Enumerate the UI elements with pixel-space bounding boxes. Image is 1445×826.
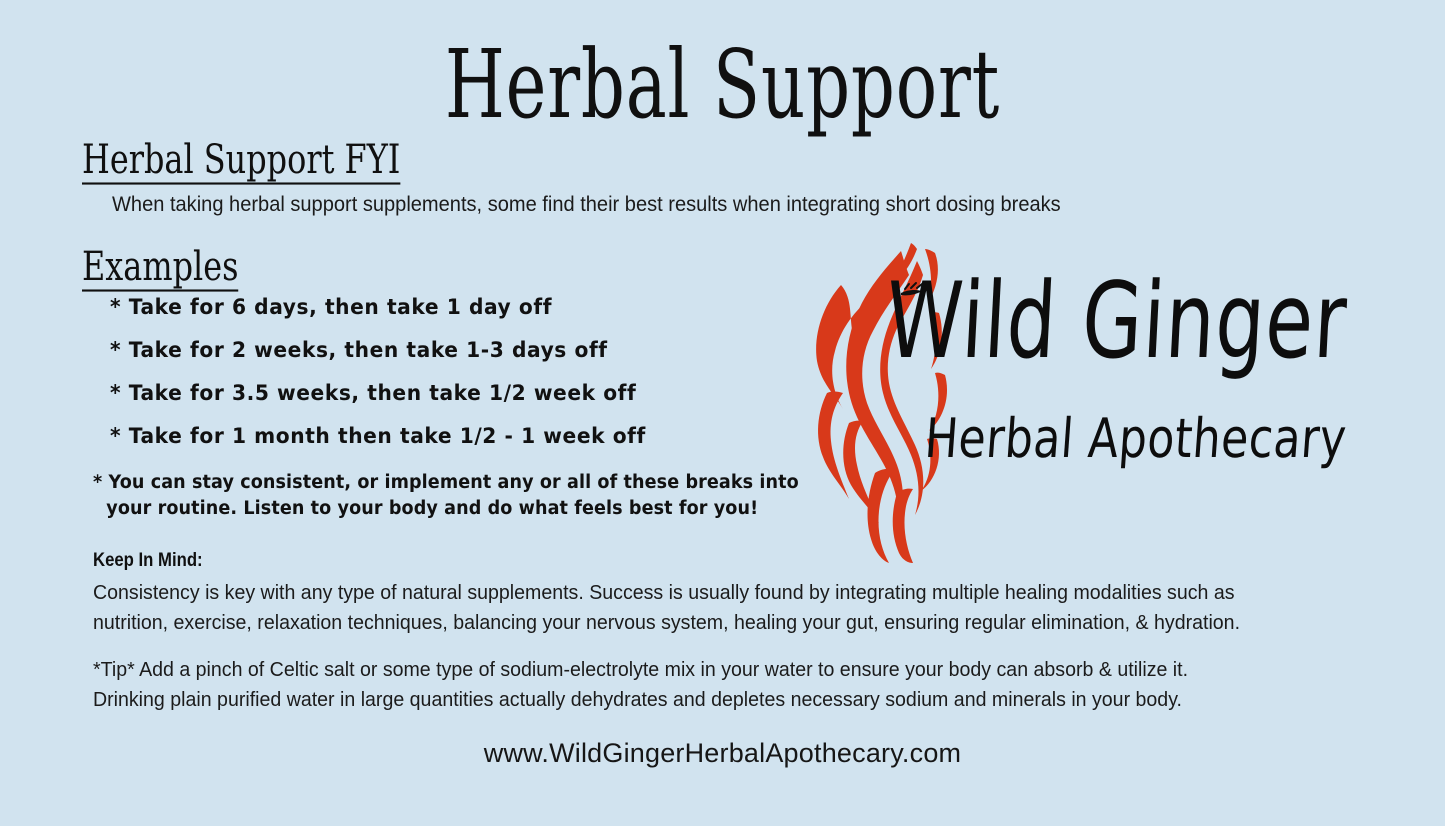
- flyer-canvas: Herbal Support Herbal Support FYI When t…: [0, 0, 1445, 826]
- brand-tagline: Herbal Apothecary: [923, 411, 1378, 465]
- keep-in-mind-paragraph: Consistency is key with any type of natu…: [93, 578, 1335, 639]
- examples-note-line-1: * You can stay consistent, or implement …: [93, 470, 758, 496]
- list-item: * Take for 1 month then take 1/2 - 1 wee…: [110, 426, 768, 448]
- list-item: * Take for 3.5 weeks, then take 1/2 week…: [110, 383, 768, 405]
- tip-line-1: *Tip* Add a pinch of Celtic salt or some…: [93, 655, 1354, 685]
- examples-note: * You can stay consistent, or implement …: [93, 470, 758, 523]
- keep-in-mind-line-2: nutrition, exercise, relaxation techniqu…: [93, 608, 1335, 638]
- section-heading-examples: Examples: [82, 246, 239, 292]
- brand-logo: Wild Ginger Herbal Apothecary: [805, 243, 1350, 563]
- list-item: * Take for 6 days, then take 1 day off: [110, 297, 768, 319]
- brand-name: Wild Ginger: [884, 269, 1312, 374]
- tip-paragraph: *Tip* Add a pinch of Celtic salt or some…: [93, 655, 1354, 716]
- tip-line-2: Drinking plain purified water in large q…: [93, 685, 1354, 715]
- page-title: Herbal Support: [145, 38, 1301, 133]
- examples-note-line-2: your routine. Listen to your body and do…: [93, 496, 758, 522]
- fyi-intro-text: When taking herbal support supplements, …: [112, 193, 1061, 217]
- section-heading-fyi: Herbal Support FYI: [82, 139, 400, 185]
- website-url[interactable]: www.WildGingerHerbalApothecary.com: [0, 738, 1445, 769]
- keep-in-mind-label: Keep In Mind:: [93, 550, 203, 572]
- examples-list: * Take for 6 days, then take 1 day off *…: [110, 297, 810, 469]
- keep-in-mind-line-1: Consistency is key with any type of natu…: [93, 578, 1335, 608]
- list-item: * Take for 2 weeks, then take 1-3 days o…: [110, 340, 768, 362]
